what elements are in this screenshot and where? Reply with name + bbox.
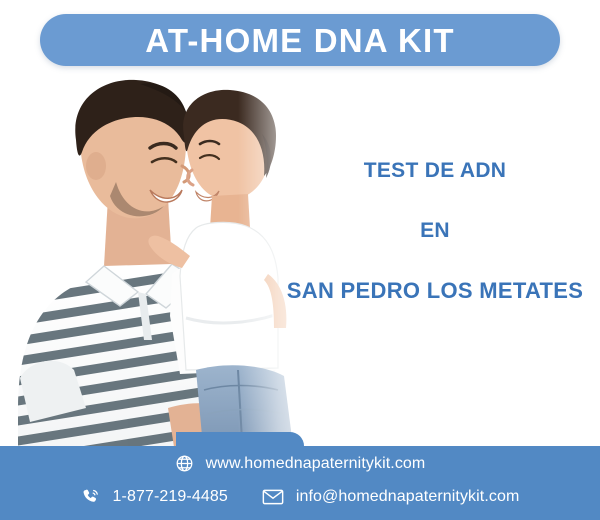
footer-website[interactable]: www.homednapaternitykit.com (175, 454, 426, 473)
envelope-icon (262, 488, 284, 506)
footer-email[interactable]: info@homednapaternitykit.com (262, 488, 520, 506)
phone-text: 1-877-219-4485 (113, 489, 228, 505)
phone-icon (81, 487, 101, 507)
headline-line-3: SAN PEDRO LOS METATES (270, 280, 600, 302)
globe-icon (175, 454, 194, 473)
poster-canvas: AT-HOME DNA KIT (0, 0, 600, 520)
website-text: www.homednapaternitykit.com (206, 456, 426, 472)
headline-block: TEST DE ADN EN SAN PEDRO LOS METATES (270, 160, 600, 302)
headline-line-2: EN (270, 220, 600, 241)
footer-contact-row: 1-877-219-4485 info@homednapaternitykit.… (0, 487, 600, 507)
page-title: AT-HOME DNA KIT (145, 24, 454, 57)
footer-website-row: www.homednapaternitykit.com (0, 454, 600, 473)
email-text: info@homednapaternitykit.com (296, 489, 520, 505)
headline-line-1: TEST DE ADN (270, 160, 600, 181)
header-banner: AT-HOME DNA KIT (40, 14, 560, 66)
footer-phone[interactable]: 1-877-219-4485 (81, 487, 228, 507)
